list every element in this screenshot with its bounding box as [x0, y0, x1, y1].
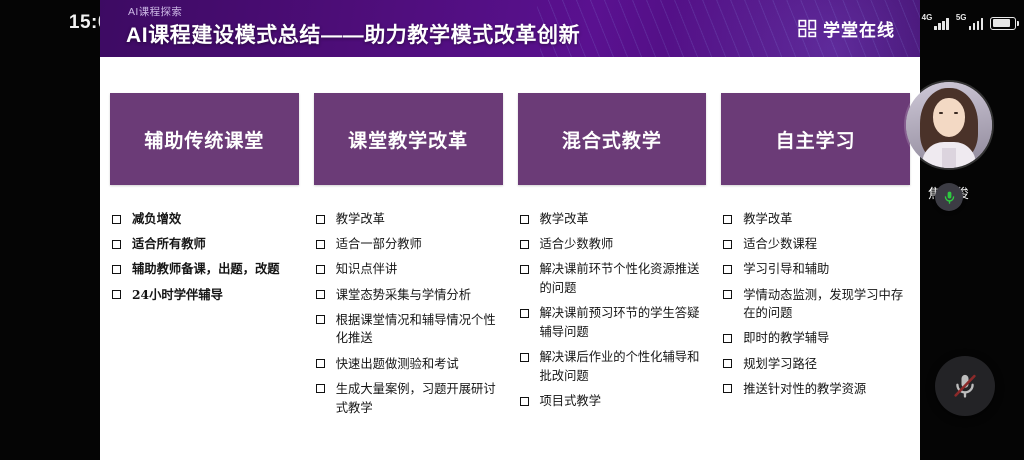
slide-kicker: AI课程探索: [128, 4, 182, 19]
list-item: 适合少数课程: [721, 235, 910, 254]
bullet-text: 根据课堂情况和辅导情况个性化推送: [336, 313, 496, 346]
list-item: 知识点伴讲: [314, 260, 503, 279]
column-header-4: 自主学习: [721, 93, 910, 185]
network-type-label-secondary: 5G: [956, 14, 967, 22]
column-header-3: 混合式教学: [518, 93, 707, 185]
column-1: 辅助传统课堂 减负增效 适合所有教师 辅助教师备课，出题，改题 24小时学伴辅导: [110, 93, 299, 424]
bullet-text: 辅助教师备课，出题，改题: [132, 261, 280, 276]
slide-banner: AI课程探索 AI课程建设模式总结——助力教学模式改革创新: [100, 0, 920, 57]
bullet-text: 教学改革: [743, 212, 792, 226]
bullet-list-2: 教学改革 适合一部分教师 知识点伴讲 课堂态势采集与学情分析 根据课堂情况和辅导…: [314, 210, 503, 417]
bullet-list-3: 教学改革 适合少数教师 解决课前环节个性化资源推送的问题 解决课前预习环节的学生…: [518, 210, 707, 411]
list-item: 教学改革: [314, 210, 503, 229]
slide-stage[interactable]: AI课程探索 AI课程建设模式总结——助力教学模式改革创新 辅助传统课堂 减负增…: [100, 0, 920, 460]
mute-button[interactable]: [935, 356, 995, 416]
slide-body: 辅助传统课堂 减负增效 适合所有教师 辅助教师备课，出题，改题 24小时学伴辅导…: [100, 57, 920, 460]
bullet-text: 解决课前预习环节的学生答疑辅导问题: [540, 306, 700, 339]
microphone-glyph: [942, 190, 957, 205]
bullet-text: 适合所有教师: [132, 236, 206, 251]
column-2: 课堂教学改革 教学改革 适合一部分教师 知识点伴讲 课堂态势采集与学情分析 根据…: [314, 93, 503, 424]
bullet-list-4: 教学改革 适合少数课程 学习引导和辅助 学情动态监测，发现学习中存在的问题 即时…: [721, 210, 910, 399]
avatar[interactable]: [906, 82, 992, 168]
list-item: 适合一部分教师: [314, 235, 503, 254]
column-header-2: 课堂教学改革: [314, 93, 503, 185]
list-item: 快速出题做测验和考试: [314, 355, 503, 374]
presenter-tile[interactable]: 焦克俊: [903, 82, 995, 202]
list-item: 适合所有教师: [110, 235, 299, 254]
bullet-text: 24小时学伴辅导: [132, 287, 223, 302]
column-header-1: 辅助传统课堂: [110, 93, 299, 185]
page-title: AI课程建设模式总结——助力教学模式改革创新: [126, 19, 580, 49]
column-heading-label: 课堂教学改革: [348, 126, 468, 153]
column-heading-label: 辅助传统课堂: [144, 126, 264, 153]
list-item: 即时的教学辅导: [721, 329, 910, 348]
bullet-list-1: 减负增效 适合所有教师 辅助教师备课，出题，改题 24小时学伴辅导: [110, 210, 299, 304]
bullet-text: 适合一部分教师: [336, 237, 422, 251]
list-item: 适合少数教师: [518, 235, 707, 254]
column-heading-label: 自主学习: [776, 126, 856, 153]
list-item: 教学改革: [721, 210, 910, 229]
list-item: 生成大量案例，习题开展研讨式教学: [314, 380, 503, 417]
list-item: 教学改革: [518, 210, 707, 229]
bullet-text: 教学改革: [540, 212, 589, 226]
bullet-text: 减负增效: [132, 211, 181, 226]
status-bar-icons: 4G 5G: [922, 10, 1016, 36]
list-item: 项目式教学: [518, 392, 707, 411]
list-item: 解决课前预习环节的学生答疑辅导问题: [518, 304, 707, 341]
list-item: 学情动态监测，发现学习中存在的问题: [721, 286, 910, 323]
bullet-text: 解决课后作业的个性化辅导和批改问题: [540, 350, 700, 383]
list-item: 24小时学伴辅导: [110, 286, 299, 305]
list-item: 课堂态势采集与学情分析: [314, 286, 503, 305]
bullet-text: 学情动态监测，发现学习中存在的问题: [743, 288, 903, 321]
signal-bars-icon: [934, 17, 949, 30]
phone-screen: 15:01 4G 5G AI课程探索 AI课程建设模式总结——助力教学模式改革创…: [0, 0, 1024, 460]
bullet-text: 生成大量案例，习题开展研讨式教学: [336, 382, 496, 415]
list-item: 根据课堂情况和辅导情况个性化推送: [314, 311, 503, 348]
bullet-text: 适合少数教师: [540, 237, 614, 251]
column-heading-label: 混合式教学: [562, 126, 662, 153]
bullet-text: 项目式教学: [540, 394, 602, 408]
bullet-text: 即时的教学辅导: [743, 331, 829, 345]
microphone-on-icon: [935, 183, 963, 211]
bullet-text: 学习引导和辅助: [743, 262, 829, 276]
list-item: 解决课前环节个性化资源推送的问题: [518, 260, 707, 297]
column-list: 辅助传统课堂 减负增效 适合所有教师 辅助教师备课，出题，改题 24小时学伴辅导…: [100, 93, 920, 424]
xuetang-logo-icon: [798, 19, 817, 38]
column-3: 混合式教学 教学改革 适合少数教师 解决课前环节个性化资源推送的问题 解决课前预…: [518, 93, 707, 424]
list-item: 解决课后作业的个性化辅导和批改问题: [518, 348, 707, 385]
battery-icon: [990, 17, 1016, 30]
microphone-muted-icon: [951, 372, 979, 400]
signal-bars-icon-secondary: [969, 17, 984, 30]
list-item: 辅助教师备课，出题，改题: [110, 260, 299, 279]
brand-name-label: 学堂在线: [823, 16, 895, 41]
bullet-text: 课堂态势采集与学情分析: [336, 288, 471, 302]
list-item: 学习引导和辅助: [721, 260, 910, 279]
bullet-text: 知识点伴讲: [336, 262, 398, 276]
network-type-label: 4G: [922, 14, 933, 22]
list-item: 推送针对性的教学资源: [721, 380, 910, 399]
bullet-text: 教学改革: [336, 212, 385, 226]
list-item: 减负增效: [110, 210, 299, 229]
bullet-text: 适合少数课程: [743, 237, 817, 251]
list-item: 规划学习路径: [721, 355, 910, 374]
bullet-text: 快速出题做测验和考试: [336, 357, 459, 371]
brand-logo: 学堂在线: [798, 16, 895, 41]
bullet-text: 规划学习路径: [743, 357, 817, 371]
column-4: 自主学习 教学改革 适合少数课程 学习引导和辅助 学情动态监测，发现学习中存在的…: [721, 93, 910, 424]
bullet-text: 推送针对性的教学资源: [743, 382, 866, 396]
bullet-text: 解决课前环节个性化资源推送的问题: [540, 262, 700, 295]
